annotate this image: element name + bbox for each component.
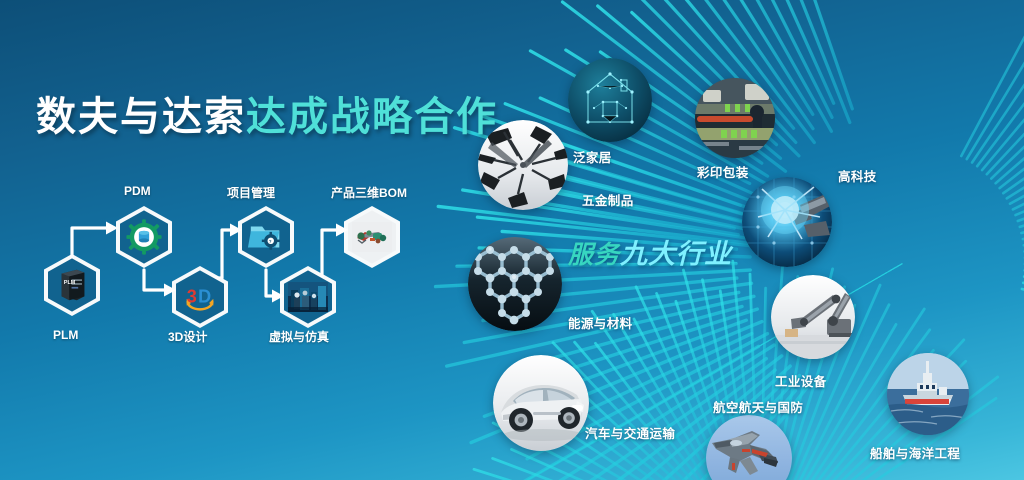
industry-bubble-energy[interactable] bbox=[468, 237, 562, 331]
flow-node-pdm[interactable] bbox=[116, 206, 172, 268]
gear-database-icon bbox=[125, 218, 163, 256]
svg-text:3: 3 bbox=[187, 287, 197, 307]
flow-node-simulation[interactable] bbox=[280, 266, 336, 328]
flow-label-3d-design: 3D设计 bbox=[168, 328, 207, 345]
suv-car-photo bbox=[493, 355, 589, 451]
robot-arm-photo bbox=[771, 275, 855, 359]
industry-label-marine: 船舶与海洋工程 bbox=[870, 443, 960, 462]
industry-label-home: 泛家居 bbox=[573, 147, 612, 166]
industry-label-auto: 汽车与交通运输 bbox=[585, 423, 675, 442]
simulation-photo-icon bbox=[288, 282, 328, 312]
naval-ship-photo bbox=[887, 353, 969, 435]
industry-bubble-hitech[interactable] bbox=[742, 177, 832, 267]
flow-label-plm: PLM bbox=[53, 328, 78, 342]
banner-canvas: 数夫与达索达成战略合作 bbox=[0, 0, 1024, 480]
industry-label-aero: 航空航天与国防 bbox=[713, 397, 803, 416]
flow-node-3d-bom[interactable] bbox=[344, 206, 400, 268]
industry-bubble-aero[interactable] bbox=[706, 415, 792, 480]
industries-heading-prefix: 服务 bbox=[568, 241, 620, 269]
svg-text:?: ? bbox=[269, 239, 272, 244]
svg-text:D: D bbox=[198, 287, 211, 307]
hardware-tools-photo bbox=[478, 120, 568, 210]
robotic-welding-photo bbox=[742, 177, 832, 267]
industry-bubble-equipment[interactable] bbox=[771, 275, 855, 359]
graphene-lattice-photo bbox=[468, 237, 562, 331]
svg-text:PLM: PLM bbox=[64, 280, 76, 286]
industry-bubble-printing[interactable] bbox=[695, 78, 775, 158]
industry-label-printing: 彩印包装 bbox=[697, 162, 749, 181]
fighter-jet-photo bbox=[706, 415, 792, 480]
industry-bubble-hardware[interactable] bbox=[478, 120, 568, 210]
flow-node-plm[interactable]: PLM bbox=[44, 254, 100, 316]
industry-bubble-marine[interactable] bbox=[887, 353, 969, 435]
flow-label-3d-bom: 产品三维BOM bbox=[331, 184, 407, 201]
title-primary: 数夫与达索 bbox=[36, 95, 246, 139]
industry-label-hardware: 五金制品 bbox=[582, 190, 634, 209]
industry-ring: 泛家居 bbox=[430, 0, 1024, 480]
flow-node-3d-design[interactable]: 3 D bbox=[172, 266, 228, 328]
industries-heading: 服务九大行业 bbox=[568, 232, 732, 271]
flow-label-simulation: 虚拟与仿真 bbox=[269, 328, 329, 345]
page-title: 数夫与达索达成战略合作 bbox=[36, 84, 498, 142]
folder-gear-icon: ? bbox=[247, 218, 285, 256]
industry-bubble-auto[interactable] bbox=[493, 355, 589, 451]
flow-label-pdm: PDM bbox=[124, 184, 151, 198]
3d-assembly-icon bbox=[352, 222, 392, 252]
printing-press-photo bbox=[695, 78, 775, 158]
industry-label-hitech: 高科技 bbox=[838, 166, 877, 185]
industries-heading-main: 九大行业 bbox=[620, 239, 732, 269]
industry-label-equipment: 工业设备 bbox=[775, 371, 827, 390]
server-tower-icon: PLM bbox=[53, 266, 91, 304]
flow-node-project-management[interactable]: ? bbox=[238, 206, 294, 268]
flow-label-project-management: 项目管理 bbox=[227, 184, 275, 201]
plm-flow-diagram: PLM bbox=[26, 178, 426, 368]
smart-home-network-icon bbox=[568, 58, 652, 142]
3d-design-icon: 3 D bbox=[181, 278, 219, 316]
industry-bubble-home[interactable] bbox=[568, 58, 652, 142]
industry-label-energy: 能源与材料 bbox=[568, 313, 633, 332]
